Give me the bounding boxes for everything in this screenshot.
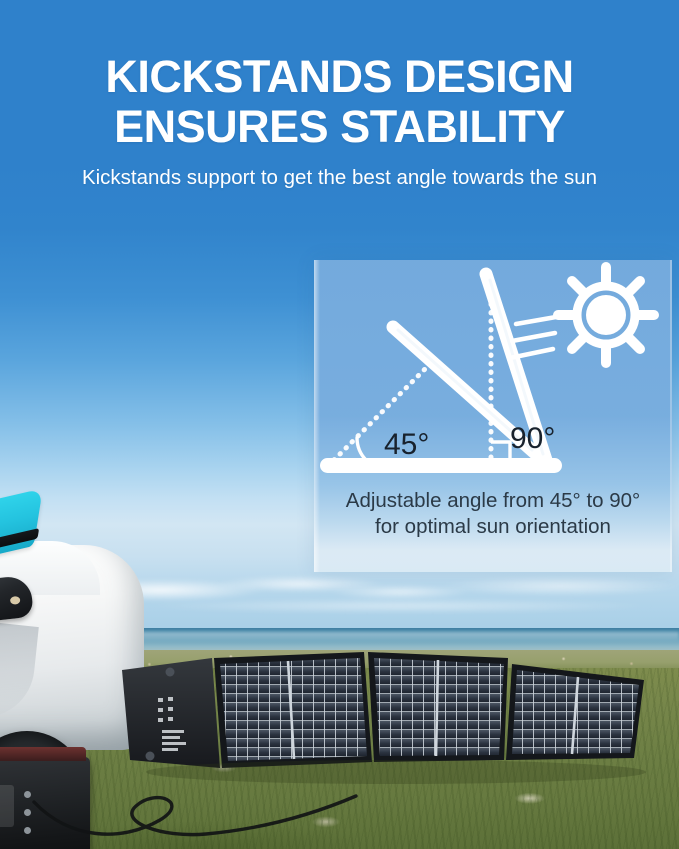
base-bar-icon xyxy=(320,458,562,473)
arc-45-icon xyxy=(357,438,366,460)
caption-line-2: for optimal sun orientation xyxy=(314,514,672,540)
angle-label-45: 45° xyxy=(384,428,429,462)
page-subtitle: Kickstands support to get the best angle… xyxy=(0,165,679,191)
solar-panel-section-2 xyxy=(368,652,508,762)
charging-cable xyxy=(30,780,360,849)
caption-line-1: Adjustable angle from 45° to 90° xyxy=(314,488,672,514)
power-station-handle xyxy=(0,747,86,761)
header: KICKSTANDS DESIGN ENSURES STABILITY Kick… xyxy=(0,0,679,210)
angle-diagram-panel: 45° 90° Adjustable angle from 45° to 90°… xyxy=(314,260,672,572)
sun-icon xyxy=(558,267,654,363)
angle-label-90: 90° xyxy=(510,422,555,456)
title-line-1: KICKSTANDS DESIGN xyxy=(0,52,679,102)
kickstand-angle-diagram xyxy=(314,260,672,492)
folding-solar-panel xyxy=(116,640,676,790)
product-feature-banner: KICKSTANDS DESIGN ENSURES STABILITY Kick… xyxy=(0,0,679,849)
solar-panel-section-3 xyxy=(506,664,644,760)
page-title: KICKSTANDS DESIGN ENSURES STABILITY xyxy=(0,0,679,152)
power-station-display xyxy=(0,785,14,827)
solar-panel-section-1 xyxy=(214,652,372,768)
diagram-caption: Adjustable angle from 45° to 90° for opt… xyxy=(314,488,672,540)
solar-panel-back-fabric xyxy=(122,658,220,768)
title-line-2: ENSURES STABILITY xyxy=(0,102,679,152)
